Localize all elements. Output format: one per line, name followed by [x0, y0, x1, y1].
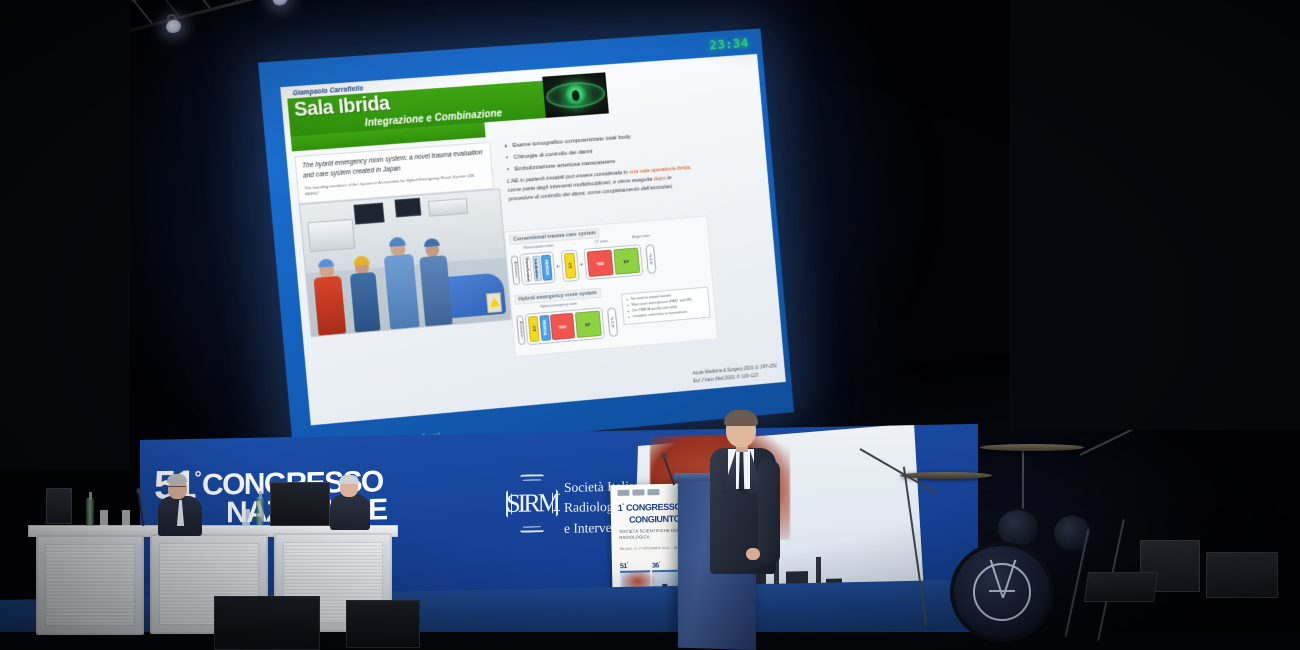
drinking-glass [122, 510, 130, 526]
cell-reboa-2: REBOA [539, 315, 551, 341]
poster-logos [617, 489, 659, 496]
drinking-glass [100, 510, 108, 526]
presentation-slide: Giampaolo Carrafiello Sala Ibrida Integr… [280, 54, 786, 425]
cell-ef: EF [613, 247, 640, 274]
diagram-row-conventional: Admission Transfusion Intubation REBOA +… [511, 243, 656, 286]
water-bottle [86, 498, 94, 526]
cell-tae-2: TAE [550, 313, 575, 340]
drinking-glass [242, 509, 250, 525]
poster-edition-sup: ° [659, 560, 660, 565]
cell-ef-2: EF [574, 311, 601, 339]
right-dark-mask [1010, 0, 1300, 430]
green-eye-icon [542, 72, 609, 118]
laptop-screen [270, 482, 330, 526]
poster-ordinal-sup: ° [622, 503, 624, 509]
stage-monitor-wedge [1084, 572, 1158, 602]
front-fill-speaker [346, 600, 420, 648]
poster-title-1: CONGRESSO [626, 502, 681, 513]
diagram-row2-sub: Hybrid emergency room [540, 302, 577, 309]
diagram-notes: No need for patient transfer May cause o… [621, 287, 710, 325]
slide-citation: Acute Medicine & Surgery 2019, 6: 247–25… [692, 363, 778, 385]
cell-intubation: Intubation [532, 255, 542, 281]
poster-edition-sup: ° [627, 561, 628, 566]
para-highlight-2: dopo [654, 176, 666, 183]
sirm-logo-icon: SIRM [506, 474, 558, 533]
presenting-speaker [700, 412, 810, 650]
cell-ct-2: CT [528, 316, 540, 342]
poster-ordinal-title: 1° CONGRESSO [618, 502, 681, 513]
presentation-timer: 23:34 [709, 36, 749, 53]
projection-screen: 23:34 Giampaolo Carrafiello Sala Ibrida … [258, 28, 794, 459]
diagram-row1-sub1: Resuscitation room [523, 244, 553, 250]
diagram-row-hybrid: Admission CT REBOA TAE EF To ICU [516, 306, 618, 346]
drum-kit [900, 432, 1160, 650]
admission-pill-2: Admission [516, 315, 525, 345]
operating-room-photo [299, 189, 512, 338]
diagram-row1-label: Conventional trauma care system [509, 228, 600, 245]
water-bottle [256, 497, 264, 525]
to-icu-pill-1: To ICU [645, 244, 656, 274]
diagram-row1-sub2: CT room [594, 239, 608, 244]
admission-pill: Admission [511, 255, 520, 285]
to-icu-pill-2: To ICU [607, 307, 618, 337]
sirm-monogram: SIRM [506, 474, 558, 533]
left-dark-mask [0, 0, 130, 470]
head-table-panel [36, 535, 144, 635]
cell-ct: CT [563, 253, 576, 279]
trauma-care-diagram: Conventional trauma care system Resuscit… [504, 215, 718, 357]
poster-title-2: CONGIUNTO [629, 514, 680, 525]
front-fill-speaker [214, 596, 320, 650]
equipment-case [46, 488, 72, 524]
stage-lamp-icon [271, 0, 289, 7]
bass-drum [950, 542, 1054, 642]
edition-ordinal: ° [195, 468, 200, 488]
cell-transfusion: Transfusion [523, 256, 533, 282]
cymbal [980, 444, 1084, 451]
diagram-row1-sub3: Angio room [632, 234, 650, 239]
equipment-case [1206, 552, 1278, 598]
cell-reboa: REBOA [541, 255, 553, 281]
auditorium-scene: 23:34 Giampaolo Carrafiello Sala Ibrida … [0, 0, 1300, 650]
cell-tae: TAE [587, 250, 614, 277]
stage-lamp-icon [165, 18, 183, 34]
